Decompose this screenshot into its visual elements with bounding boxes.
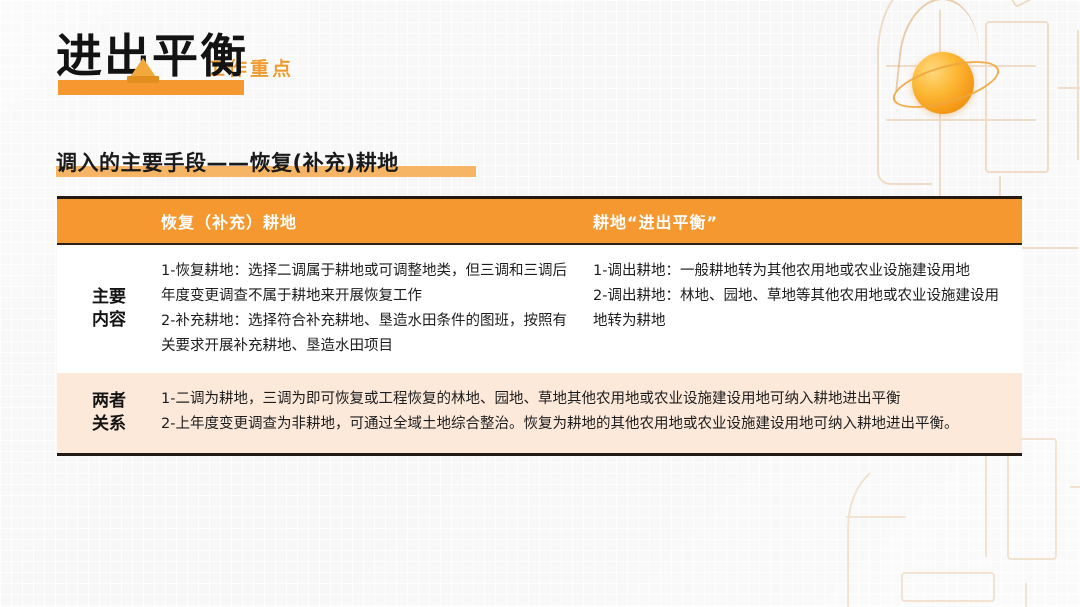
table-row: 主要 内容 1-恢复耕地：选择二调属于耕地或可调整地类，但三调和三调后年度变更调… [57,245,1022,373]
comparison-table: 恢复（补充）耕地 耕地“进出平衡” 主要 内容 1-恢复耕地：选择二调属于耕地或… [57,196,1022,456]
cell-recovery-main-content: 1-恢复耕地：选择二调属于耕地或可调整地类，但三调和三调后年度变更调查不属于耕地… [161,245,593,373]
slide-canvas: 进出平衡 工作重点 调入的主要手段——恢复(补充)耕地 恢复（补充）耕地 耕地“… [0,0,1080,607]
cell-item: 2-补充耕地：选择符合补充耕地、垦造水田条件的图班，按照有关要求开展补充耕地、垦… [161,309,577,359]
cell-item: 1-二调为耕地，三调为即可恢复或工程恢复的林地、园地、草地其他农用地或农业设施建… [161,387,1000,412]
table-header-recovery: 恢复（补充）耕地 [161,209,593,233]
mountain-base-icon [127,76,159,83]
table-header-balance: 耕地“进出平衡” [593,209,1022,233]
cell-item: 2-调出耕地：林地、园地、草地等其他农用地或农业设施建设用地转为耕地 [593,284,1004,334]
row-label-main-content: 主要 内容 [57,245,161,373]
cell-relationship-merged: 1-二调为耕地，三调为即可恢复或工程恢复的林地、园地、草地其他农用地或农业设施建… [161,373,1022,453]
row-label-line2: 关系 [92,413,126,436]
section-title: 调入的主要手段——恢复(补充)耕地 [56,147,399,177]
logo-block: 进出平衡 [56,30,248,82]
mountain-triangle-icon [130,58,156,77]
cell-item: 2-上年度变更调查为非耕地，可通过全域土地综合整治。恢复为耕地的其他农用地或农业… [161,412,1000,437]
cell-balance-main-content: 1-调出耕地：一般耕地转为其他农用地或农业设施建设用地 2-调出耕地：林地、园地… [593,245,1022,373]
cell-item: 1-恢复耕地：选择二调属于耕地或可调整地类，但三调和三调后年度变更调查不属于耕地… [161,259,577,309]
cell-item: 1-调出耕地：一般耕地转为其他农用地或农业设施建设用地 [593,259,1004,284]
row-label-relationship: 两者 关系 [57,373,161,453]
table-row: 两者 关系 1-二调为耕地，三调为即可恢复或工程恢复的林地、园地、草地其他农用地… [57,373,1022,453]
row-label-line2: 内容 [92,309,126,332]
planet-decoration [896,36,992,132]
table-header-row: 恢复（补充）耕地 耕地“进出平衡” [57,199,1022,245]
row-label-line1: 主要 [92,286,126,309]
row-label-line1: 两者 [92,390,126,413]
